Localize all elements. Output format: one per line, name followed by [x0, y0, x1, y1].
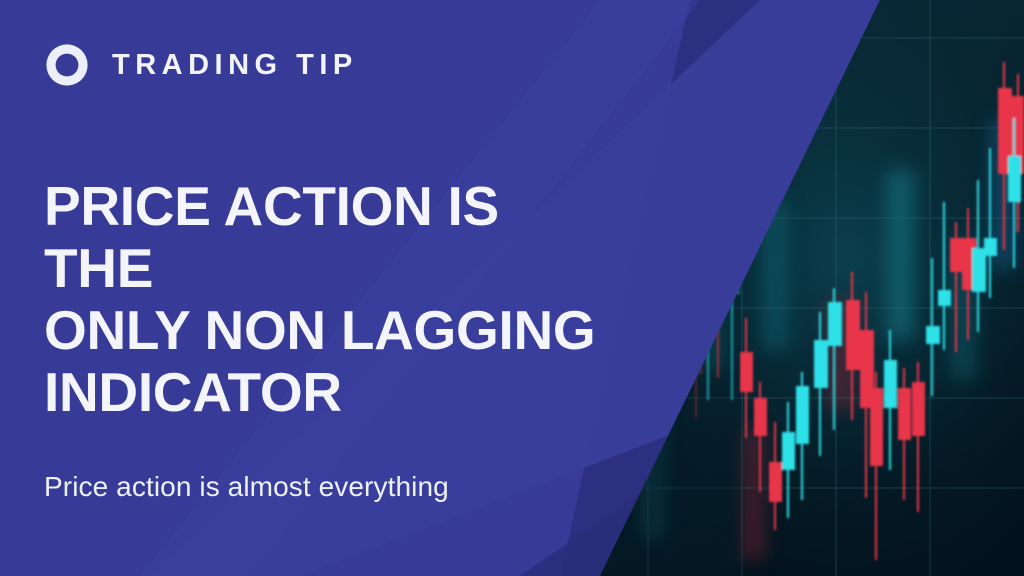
trading-tip-poster: TRADING TIP PRICE ACTION IS THE ONLY NON…: [0, 0, 1024, 576]
page-title: PRICE ACTION IS THE ONLY NON LAGGING IND…: [44, 175, 604, 424]
brand-lockup: TRADING TIP: [44, 42, 358, 88]
split-ring-logo-icon: [44, 42, 90, 88]
subtitle: Price action is almost everything: [44, 470, 604, 504]
headline-line-3: INDICATOR: [44, 361, 604, 423]
headline-line-1: PRICE ACTION IS THE: [44, 175, 604, 299]
headline-line-2: ONLY NON LAGGING: [44, 299, 604, 361]
brand-name: TRADING TIP: [112, 51, 358, 80]
poster-content: TRADING TIP PRICE ACTION IS THE ONLY NON…: [0, 0, 620, 576]
